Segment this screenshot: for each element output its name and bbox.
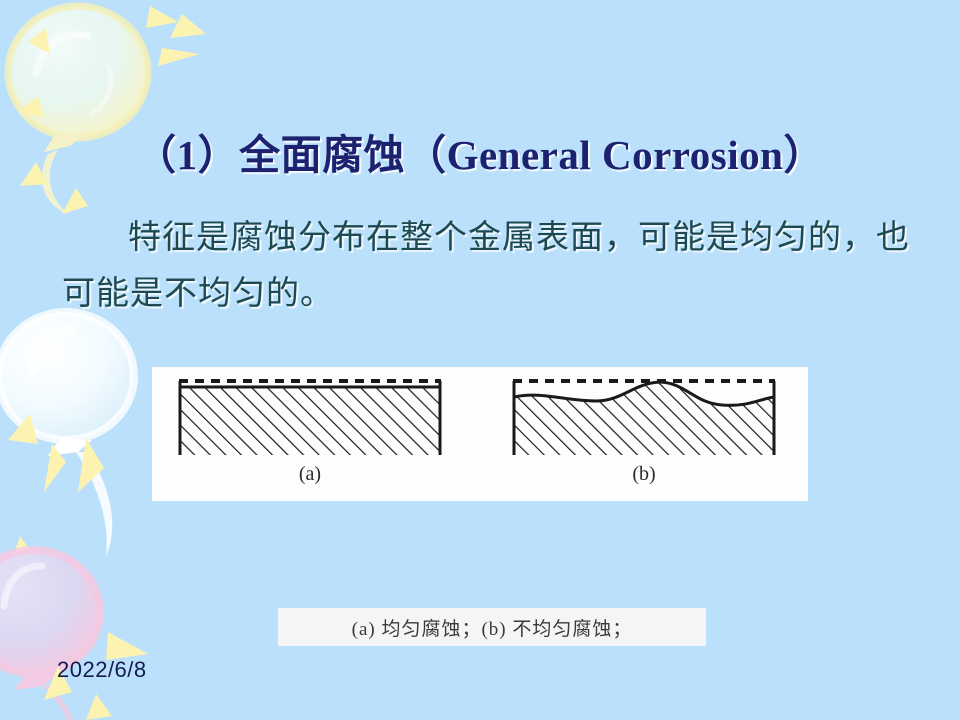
diagram-panel-b	[510, 375, 778, 457]
diagram-panel-a	[176, 375, 444, 457]
balloon-bottom-left-icon	[0, 550, 100, 720]
diagram-label-a: (a)	[176, 463, 444, 486]
balloon-top-left-icon	[8, 6, 148, 214]
balloon-mid-left-icon	[0, 312, 134, 556]
slide-canvas: （1）全面腐蚀（General Corrosion） 特征是腐蚀分布在整个金属表…	[0, 0, 960, 720]
confetti-top-left	[18, 6, 206, 214]
figure-caption: (a) 均匀腐蚀；(b) 不均匀腐蚀；	[278, 608, 706, 646]
figure-image: (a) (b)	[152, 367, 808, 501]
figure-caption-text: (a) 均匀腐蚀；(b) 不均匀腐蚀；	[352, 614, 633, 641]
body-paragraph: 特征是腐蚀分布在整个金属表面，可能是均匀的，也可能是不均匀的。	[62, 210, 942, 322]
slide-date: 2022/6/8	[57, 657, 147, 683]
confetti-mid-left	[8, 414, 104, 566]
page-title: （1）全面腐蚀（General Corrosion）	[0, 132, 960, 179]
diagram-label-b: (b)	[510, 463, 778, 486]
